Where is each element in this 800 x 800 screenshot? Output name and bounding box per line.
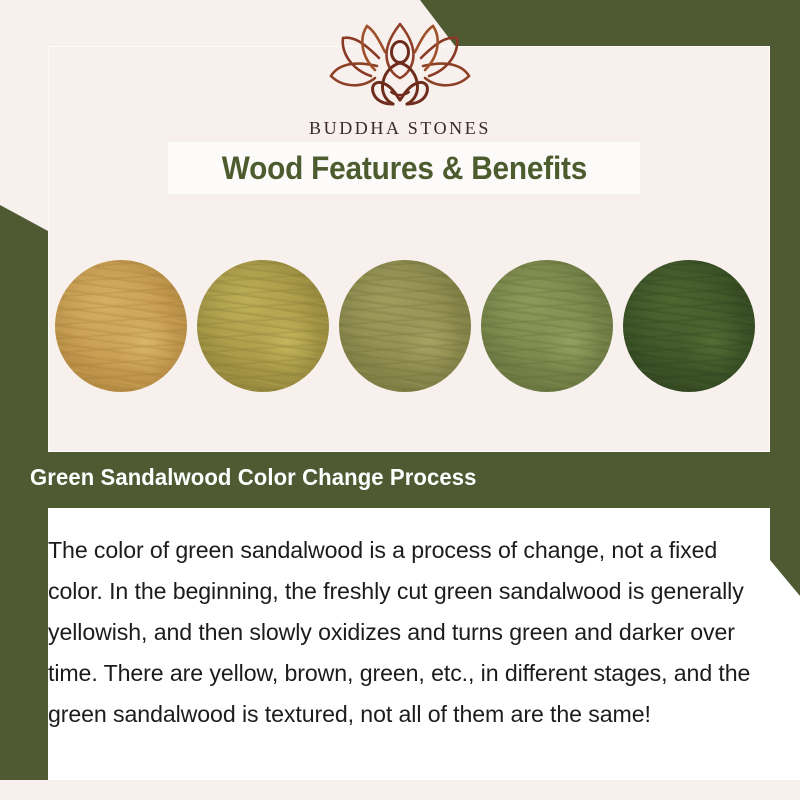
bead-grain bbox=[339, 260, 471, 392]
brand-logo: BUDDHA STONES bbox=[0, 22, 800, 139]
title-banner: Wood Features & Benefits bbox=[168, 142, 640, 194]
bead-row bbox=[55, 256, 755, 396]
bottom-cream-strip bbox=[0, 780, 800, 800]
section-ribbon: Green Sandalwood Color Change Process bbox=[0, 452, 572, 502]
bead-stage-2 bbox=[197, 260, 329, 392]
left-green-rail bbox=[0, 205, 48, 800]
page-title: Wood Features & Benefits bbox=[221, 150, 586, 187]
poster-root: BUDDHA STONES Wood Features & Benefits G… bbox=[0, 0, 800, 800]
bead-stage-4 bbox=[481, 260, 613, 392]
bead-stage-3 bbox=[339, 260, 471, 392]
bead-grain bbox=[197, 260, 329, 392]
bead-grain bbox=[623, 260, 755, 392]
section-heading: Green Sandalwood Color Change Process bbox=[30, 464, 476, 491]
body-panel: The color of green sandalwood is a proce… bbox=[48, 512, 788, 735]
bead-stage-5 bbox=[623, 260, 755, 392]
body-paragraph: The color of green sandalwood is a proce… bbox=[48, 530, 757, 735]
bead-grain bbox=[481, 260, 613, 392]
lotus-meditation-icon bbox=[315, 22, 485, 114]
bead-grain bbox=[55, 260, 187, 392]
brand-name: BUDDHA STONES bbox=[0, 118, 800, 139]
bead-stage-1 bbox=[55, 260, 187, 392]
